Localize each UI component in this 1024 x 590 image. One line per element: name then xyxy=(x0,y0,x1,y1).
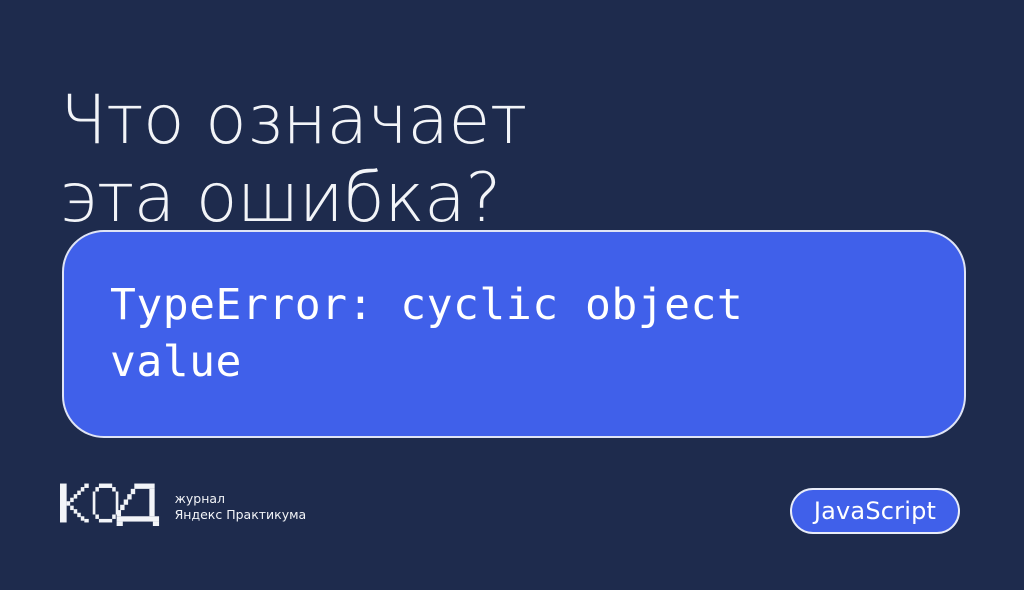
kod-logo-icon xyxy=(60,480,163,526)
brand-tagline: журнал Яндекс Практикума xyxy=(175,491,307,526)
brand-lockup[interactable]: журнал Яндекс Практикума xyxy=(60,480,306,526)
language-badge[interactable]: JavaScript xyxy=(790,488,960,534)
error-code-card: TypeError: cyclic object value xyxy=(62,230,966,438)
poster-canvas: Что означает эта ошибка? TypeError: cycl… xyxy=(0,0,1024,590)
page-title: Что означает эта ошибка? xyxy=(60,82,960,238)
error-message-text: TypeError: cyclic object value xyxy=(64,277,964,391)
